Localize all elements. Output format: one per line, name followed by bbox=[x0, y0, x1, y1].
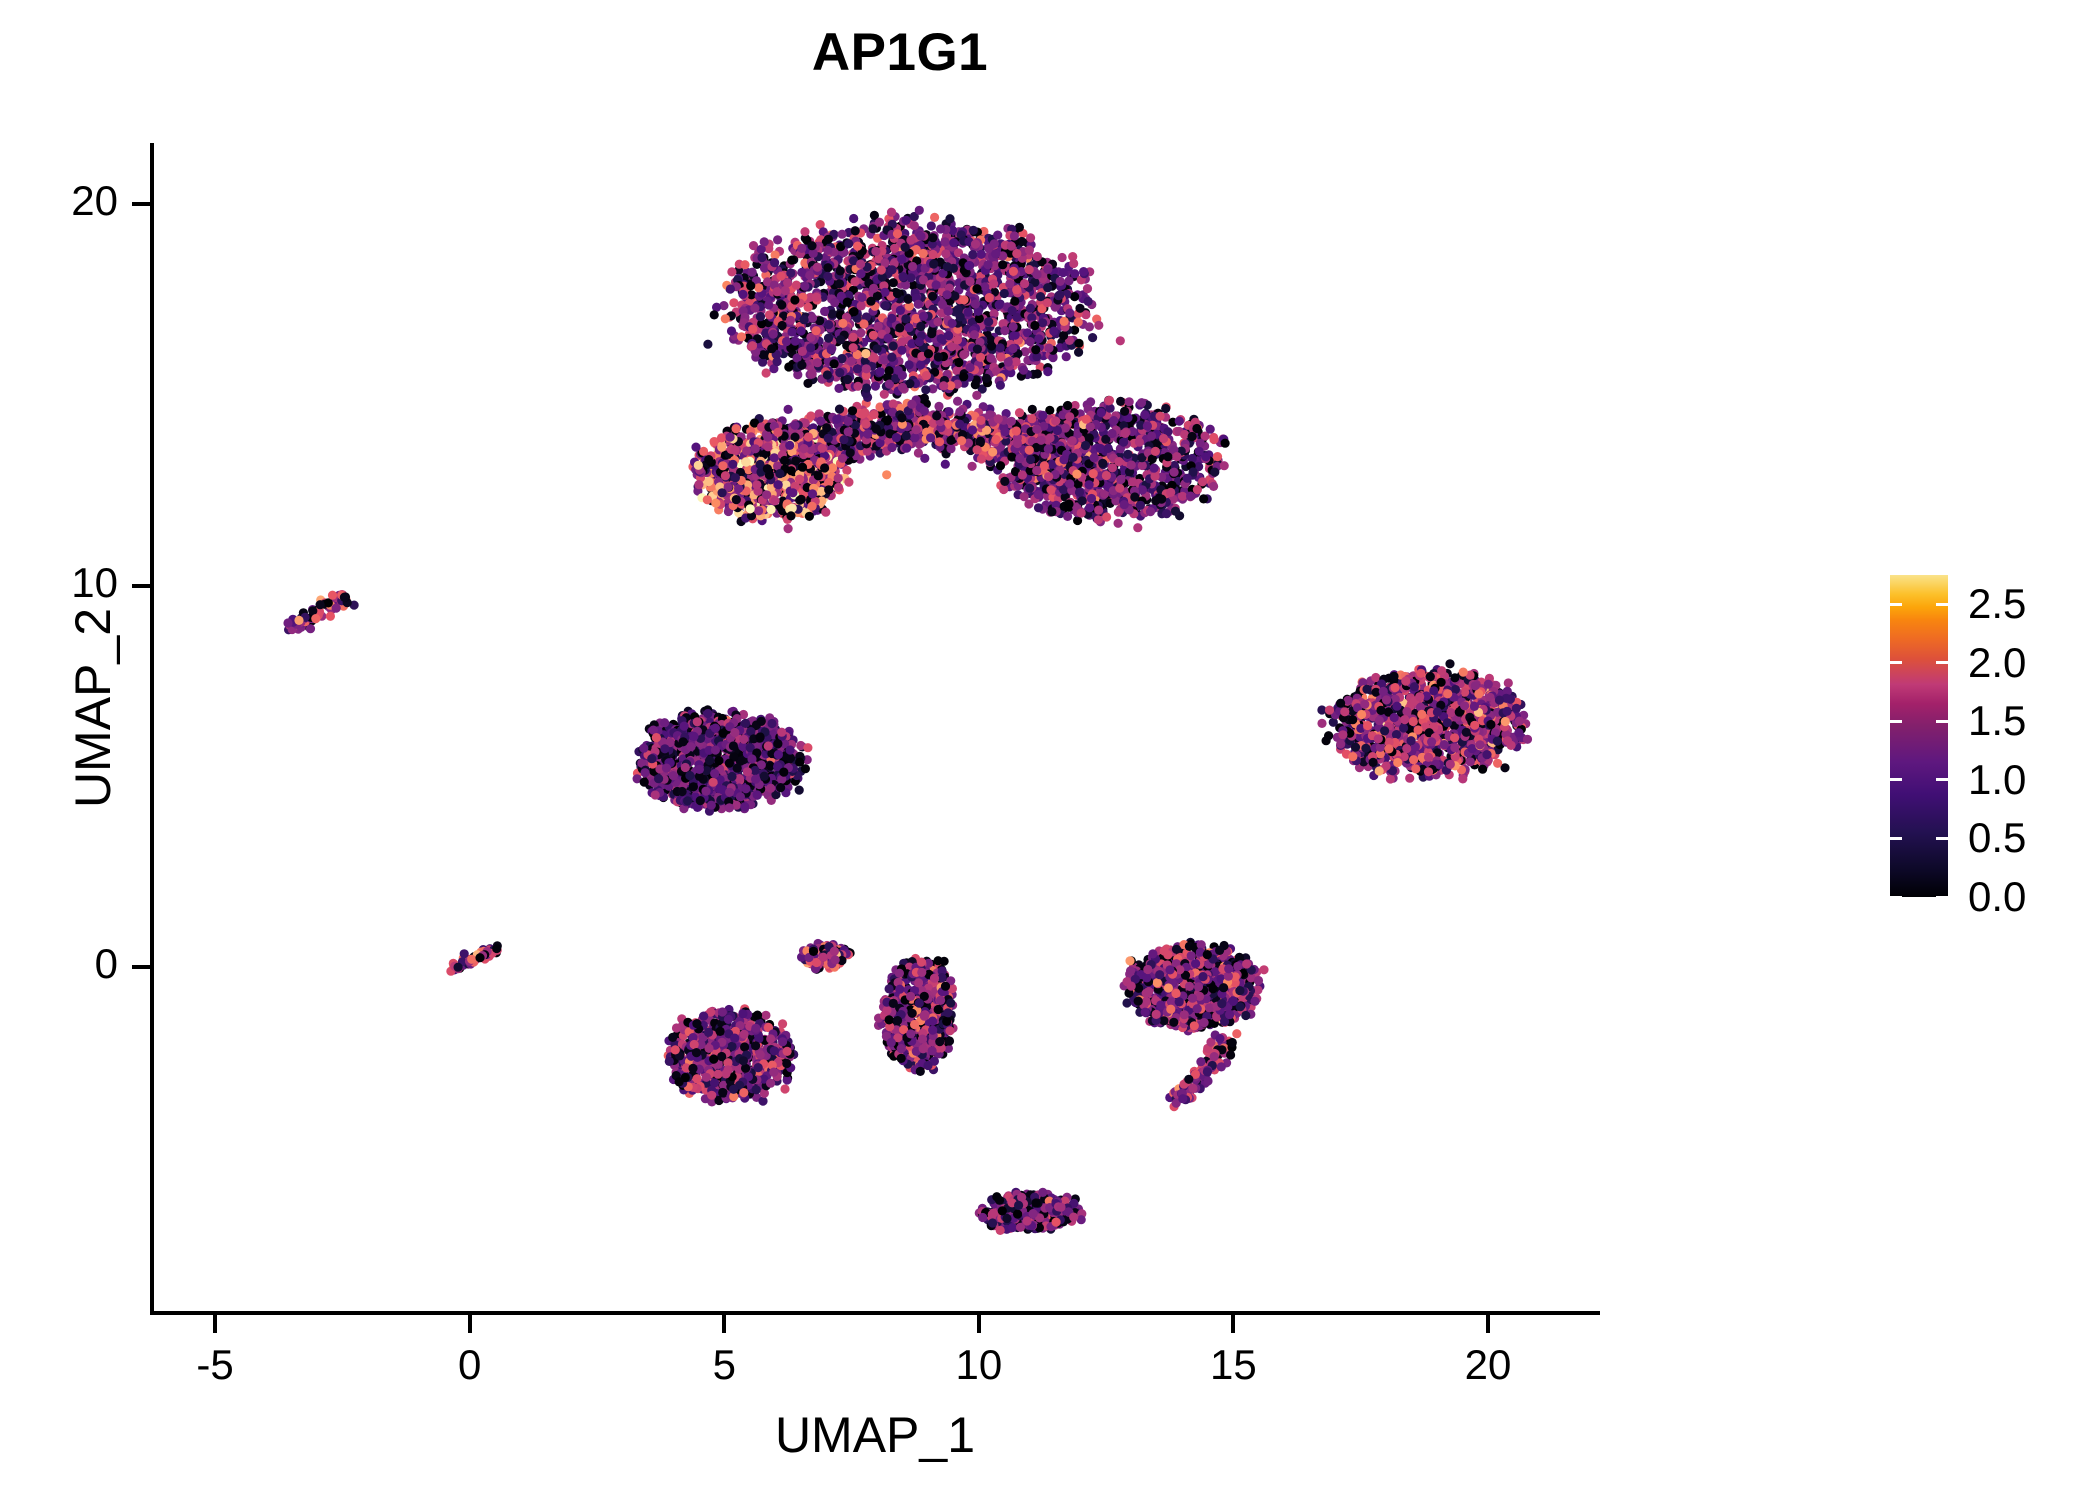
colorbar-tick-label: 1.0 bbox=[1968, 756, 2026, 804]
x-axis-tick-label: 15 bbox=[1173, 1341, 1293, 1389]
scatter-points bbox=[154, 143, 1600, 1311]
x-axis-tick bbox=[468, 1315, 472, 1333]
x-axis-tick-label: 5 bbox=[664, 1341, 784, 1389]
x-axis-title: UMAP_1 bbox=[150, 1406, 1600, 1464]
x-axis-tick bbox=[1231, 1315, 1235, 1333]
colorbar-tick bbox=[1936, 778, 1948, 781]
x-axis-tick bbox=[722, 1315, 726, 1333]
colorbar-tick bbox=[1890, 896, 1902, 899]
colorbar-tick bbox=[1890, 778, 1902, 781]
colorbar-tick-label: 0.5 bbox=[1968, 814, 2026, 862]
x-axis-tick-label: 20 bbox=[1428, 1341, 1548, 1389]
colorbar-tick bbox=[1890, 837, 1902, 840]
x-axis-tick-label: 0 bbox=[410, 1341, 530, 1389]
x-axis-tick bbox=[977, 1315, 981, 1333]
umap-feature-plot: AP1G1 01020 -505101520 UMAP_1 UMAP_2 0.0… bbox=[0, 0, 2100, 1500]
colorbar-tick bbox=[1936, 837, 1948, 840]
colorbar-tick bbox=[1936, 720, 1948, 723]
legend-colorbar: 0.00.51.01.52.02.5 bbox=[1890, 575, 2090, 905]
colorbar-tick bbox=[1890, 661, 1902, 664]
x-axis-line bbox=[150, 1311, 1600, 1315]
y-axis-tick-label: 20 bbox=[0, 177, 118, 225]
y-axis-tick bbox=[132, 965, 150, 969]
y-axis-tick bbox=[132, 584, 150, 588]
x-axis-tick bbox=[213, 1315, 217, 1333]
x-axis-tick-label: -5 bbox=[155, 1341, 275, 1389]
colorbar-tick-label: 2.5 bbox=[1968, 580, 2026, 628]
colorbar-tick bbox=[1936, 661, 1948, 664]
colorbar-tick-label: 2.0 bbox=[1968, 639, 2026, 687]
y-axis-title: UMAP_2 bbox=[64, 308, 122, 1108]
colorbar-tick bbox=[1936, 896, 1948, 899]
colorbar-tick bbox=[1936, 603, 1948, 606]
plot-panel bbox=[154, 143, 1600, 1311]
colorbar-tick bbox=[1890, 720, 1902, 723]
x-axis-tick-label: 10 bbox=[919, 1341, 1039, 1389]
x-axis-tick bbox=[1486, 1315, 1490, 1333]
colorbar-tick-label: 0.0 bbox=[1968, 873, 2026, 921]
colorbar-tick bbox=[1890, 603, 1902, 606]
colorbar-gradient bbox=[1890, 575, 1948, 897]
y-axis-tick bbox=[132, 202, 150, 206]
page-title: AP1G1 bbox=[0, 22, 1800, 83]
colorbar-tick-label: 1.5 bbox=[1968, 697, 2026, 745]
